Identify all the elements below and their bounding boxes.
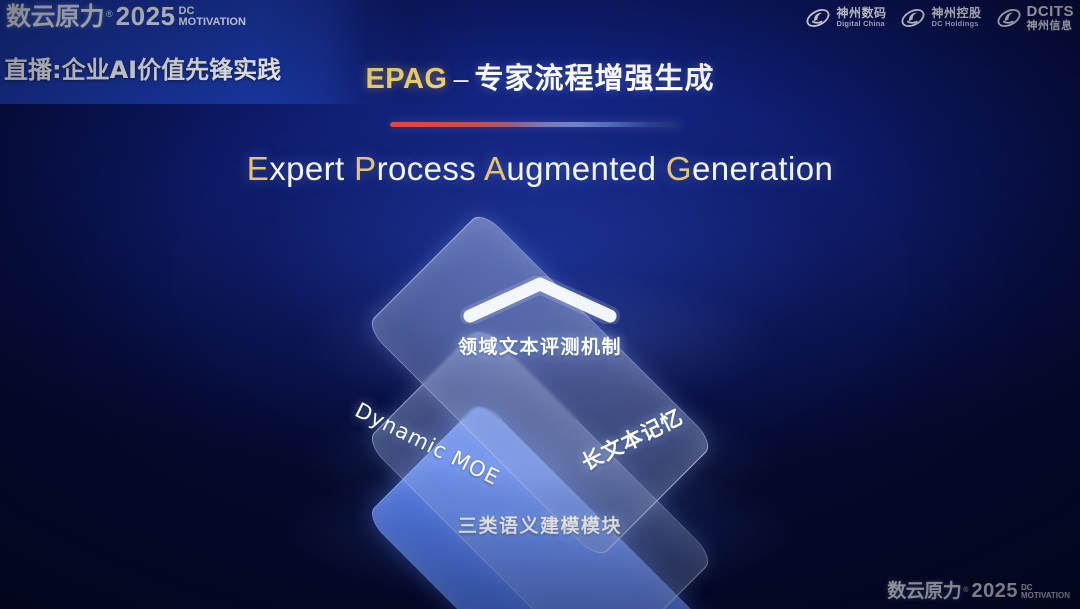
partner-logo-dcits: DCITS 神州信息 <box>996 4 1075 31</box>
footer-brand-year: 2025 <box>971 581 1018 601</box>
partner-name-en: Digital China <box>836 20 886 28</box>
subtitle-rest-process: rocess <box>377 150 477 187</box>
footer-brand-dc-motivation: DC MOTIVATION <box>1021 584 1070 600</box>
partner-name-en: DCITS <box>1027 4 1075 20</box>
subtitle-cap-a: A <box>484 150 506 187</box>
subtitle-rest-expert: xpert <box>269 150 344 187</box>
partner-name-cn: 神州信息 <box>1027 20 1075 32</box>
title-chinese: 专家流程增强生成 <box>475 61 715 95</box>
brand-motivation-label: MOTIVATION <box>179 17 246 28</box>
footer-brand-motivation-label: MOTIVATION <box>1021 592 1070 600</box>
brand-name-cn: 数云原力 <box>6 4 104 29</box>
subtitle-cap-p: P <box>354 150 376 187</box>
partner-logo-dc-holdings: 神州控股 DC Holdings <box>900 5 981 31</box>
subtitle-rest-augmented: ugmented <box>506 150 656 187</box>
layer-label-bottom: 三类语义建模模块 <box>440 511 640 538</box>
subtitle-rest-generation: eneration <box>692 150 833 187</box>
slide-canvas: 数云原力 ® 2025 DC MOTIVATION 直播:企业AI价值先锋实践 … <box>0 0 1080 609</box>
subtitle-expansion: Expert Process Augmented Generation <box>0 150 1080 188</box>
footer-registered-mark-icon: ® <box>963 587 968 594</box>
partner-logo-text: 神州数码 Digital China <box>836 7 886 27</box>
layer-label-top: 领域文本评测机制 <box>440 332 640 359</box>
title-dash: – <box>454 64 469 94</box>
title-acronym: EPAG <box>365 63 447 95</box>
footer-brand-name-cn: 数云原力 <box>887 582 961 601</box>
swirl-logo-icon <box>900 5 926 31</box>
partner-logo-text: DCITS 神州信息 <box>1027 4 1075 31</box>
brand-lockup: 数云原力 ® 2025 DC MOTIVATION <box>6 3 246 29</box>
partner-logos: 神州数码 Digital China 神州控股 DC Holdings <box>805 4 1074 31</box>
subtitle-cap-e: E <box>247 150 269 187</box>
footer-brand-watermark: 数云原力 ® 2025 DC MOTIVATION <box>887 581 1070 601</box>
partner-logo-digital-china: 神州数码 Digital China <box>805 5 886 31</box>
registered-mark-icon: ® <box>106 10 113 19</box>
accent-divider-line <box>390 122 680 127</box>
swirl-logo-icon <box>805 5 831 31</box>
partner-logo-text: 神州控股 DC Holdings <box>931 7 981 27</box>
swirl-logo-icon <box>996 5 1022 31</box>
stacked-layers-diagram: 领域文本评测机制 Dynamic MOE 长文本记忆 三类语义建模模块 <box>290 228 790 558</box>
partner-name-en: DC Holdings <box>931 20 981 28</box>
brand-dc-motivation: DC MOTIVATION <box>179 6 246 28</box>
brand-year: 2025 <box>116 3 176 29</box>
page-title: EPAG–专家流程增强生成 <box>0 55 1080 97</box>
subtitle-cap-g: G <box>666 150 692 187</box>
